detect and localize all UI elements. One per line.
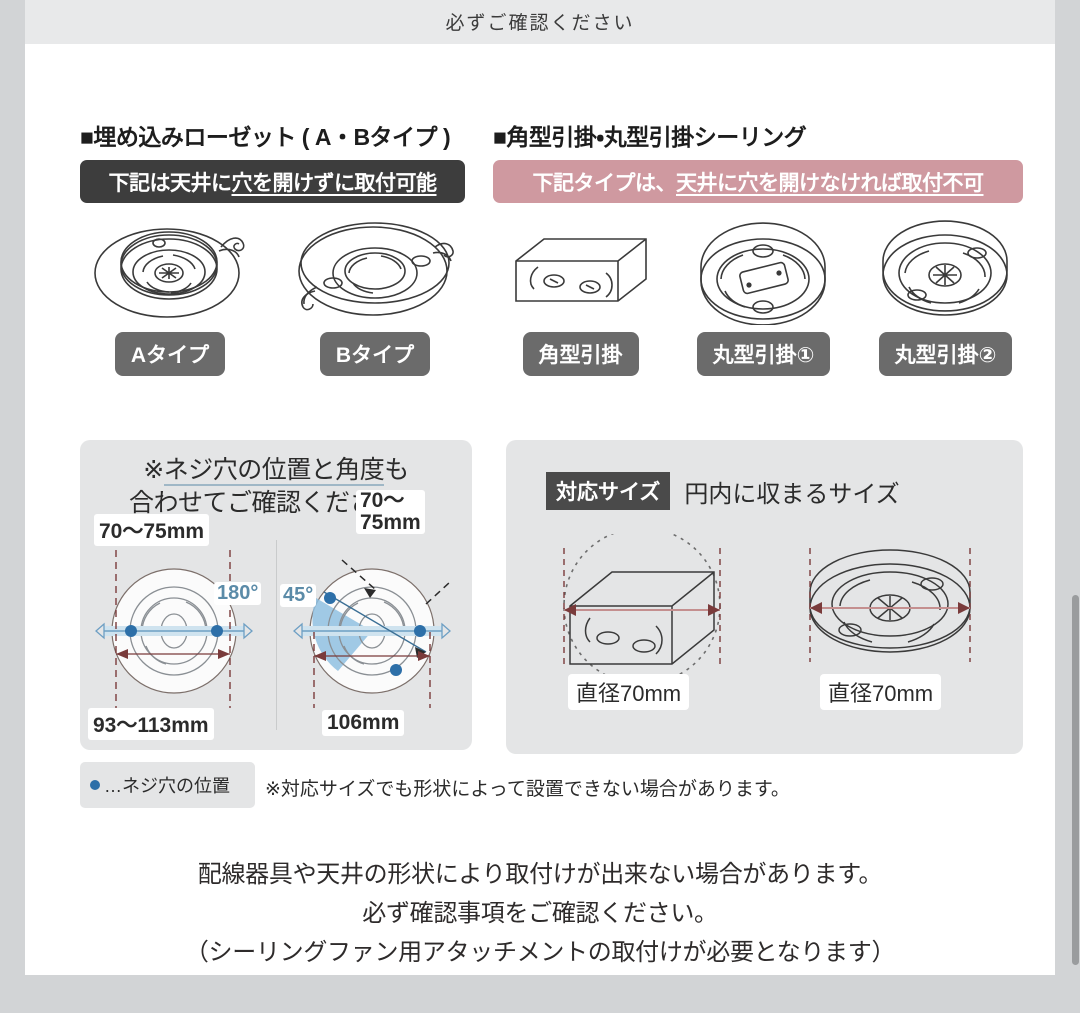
section-heading-hook: ■角型引掛・丸型引掛シーリング <box>493 118 806 152</box>
type-item-b: Bタイプ <box>280 216 470 376</box>
45-degree-diagram: 70〜 75mm 45° 106mm <box>280 536 466 736</box>
panel-divider <box>276 540 277 730</box>
banner-not-installable-plain: 下記タイプは、 <box>533 167 677 197</box>
footer-line-1: 配線器具や天井の形状により取付けが出来ない場合があります。 <box>25 856 1055 895</box>
type-label-round2: 丸型引掛② <box>879 332 1013 376</box>
screw-position-title-tail: も <box>384 456 409 484</box>
content-card: ■埋め込みローゼット ( A・Bタイプ ) 下記は天井に穴を開けずに取付可能 ■… <box>25 44 1055 975</box>
dim-label-93-113: 93〜113mm <box>88 708 214 740</box>
dim-label-70-75-diagonal: 70〜 75mm <box>356 490 425 534</box>
180-degree-diagram: 70〜75mm 180° 93〜113mm <box>88 536 274 736</box>
dim-label-106: 106mm <box>322 710 404 736</box>
diameter-label-square: 直径70mm <box>568 674 689 710</box>
page-root: 必ずご確認ください ■埋め込みローゼット ( A・Bタイプ ) 下記は天井に穴を… <box>25 0 1055 1013</box>
type-label-a: Aタイプ <box>115 332 225 376</box>
type-label-b: Bタイプ <box>320 332 430 376</box>
screw-hole-legend-text: …ネジ穴の位置 <box>104 772 230 798</box>
round-hook-2-icon <box>853 216 1038 326</box>
angle-label-45: 45° <box>280 584 316 607</box>
round-hook-1-icon <box>671 216 856 326</box>
round-hook-size: 直径70mm <box>776 534 1006 724</box>
footer-line-3: （シーリングファン用アタッチメントの取付けが必要となります） <box>25 934 1055 973</box>
screw-position-title-mark: ※ <box>143 456 163 484</box>
banner-not-installable: 下記タイプは、天井に穴を開けなければ取付不可 <box>493 160 1023 203</box>
footer-line-2: 必ず確認事項をご確認ください。 <box>25 895 1055 934</box>
banner-not-installable-underlined: 天井に穴を開けなければ取付不可 <box>676 167 984 197</box>
banner-installable: 下記は天井に穴を開けずに取付可能 <box>80 160 465 203</box>
supported-size-heading: 円内に収まるサイズ <box>684 474 899 509</box>
page-header: 必ずご確認ください <box>25 0 1055 44</box>
type-label-square: 角型引掛 <box>523 332 639 376</box>
dim-label-70-75-line2: 75mm <box>360 511 421 534</box>
dim-label-70-75: 70〜75mm <box>94 514 209 546</box>
type-item-a: Aタイプ <box>80 216 260 376</box>
type-item-round1: 丸型引掛① <box>671 216 856 376</box>
dim-label-70-75-line1: 70〜 <box>360 489 404 512</box>
screw-position-title-underlined: ネジ穴の位置と角度 <box>164 456 385 486</box>
screw-hole-legend: …ネジ穴の位置 <box>80 762 255 808</box>
angle-label-180: 180° <box>214 582 261 605</box>
scrollbar-thumb[interactable] <box>1072 595 1079 965</box>
supported-size-header: 対応サイズ 円内に収まるサイズ <box>546 472 900 510</box>
supported-size-panel: 対応サイズ 円内に収まるサイズ <box>506 440 1023 754</box>
supported-size-tag: 対応サイズ <box>546 472 670 510</box>
rosette-a-icon <box>80 216 260 326</box>
scrollbar-track[interactable] <box>1071 0 1080 1013</box>
section-heading-rosette: ■埋め込みローゼット ( A・Bタイプ ) <box>80 118 450 152</box>
screw-position-panel: ※ネジ穴の位置と角度も 合わせてご確認ください。 <box>80 440 472 750</box>
type-item-round2: 丸型引掛② <box>853 216 1038 376</box>
blue-dot-icon <box>90 780 100 790</box>
square-hook-icon <box>493 216 668 326</box>
square-hook-size: 直径70mm <box>528 534 758 724</box>
banner-installable-underlined: 穴を開けずに取付可能 <box>232 167 437 197</box>
rosette-b-icon <box>280 216 470 326</box>
page-title: 必ずご確認ください <box>25 8 1055 35</box>
footer-notes: 配線器具や天井の形状により取付けが出来ない場合があります。 必ず確認事項をご確認… <box>25 856 1055 973</box>
banner-installable-plain: 下記は天井に <box>109 167 232 197</box>
type-item-square: 角型引掛 <box>493 216 668 376</box>
diameter-label-round: 直径70mm <box>820 674 941 710</box>
type-label-round1: 丸型引掛① <box>697 332 831 376</box>
size-disclaimer-note: ※対応サイズでも形状によって設置できない場合があります。 <box>265 774 790 801</box>
